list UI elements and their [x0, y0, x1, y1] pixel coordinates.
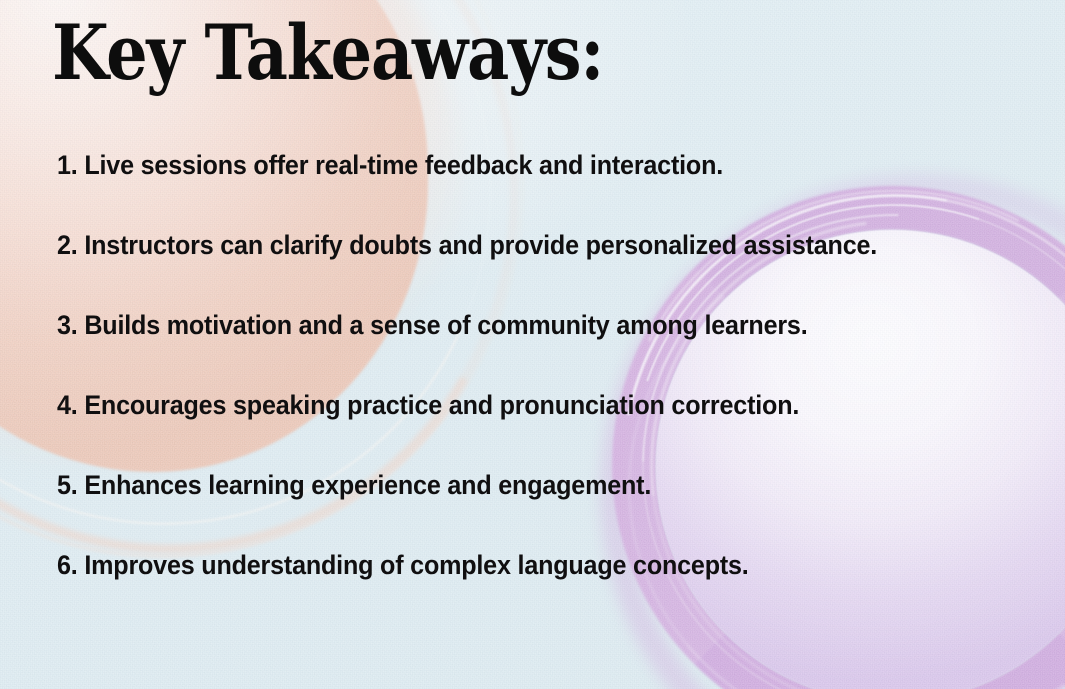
takeaways-list: 1. Live sessions offer real-time feedbac…: [57, 152, 1017, 579]
page-title: Key Takeaways:: [52, 14, 603, 92]
slide-content: Key Takeaways: 1. Live sessions offer re…: [0, 0, 1065, 689]
list-item: 5. Enhances learning experience and enga…: [57, 472, 950, 499]
list-item: 2. Instructors can clarify doubts and pr…: [57, 232, 950, 259]
list-item: 1. Live sessions offer real-time feedbac…: [57, 152, 950, 179]
list-item: 6. Improves understanding of complex lan…: [57, 552, 950, 579]
list-item: 4. Encourages speaking practice and pron…: [57, 392, 950, 419]
list-item: 3. Builds motivation and a sense of comm…: [57, 312, 950, 339]
slide-canvas: Key Takeaways: 1. Live sessions offer re…: [0, 0, 1065, 689]
